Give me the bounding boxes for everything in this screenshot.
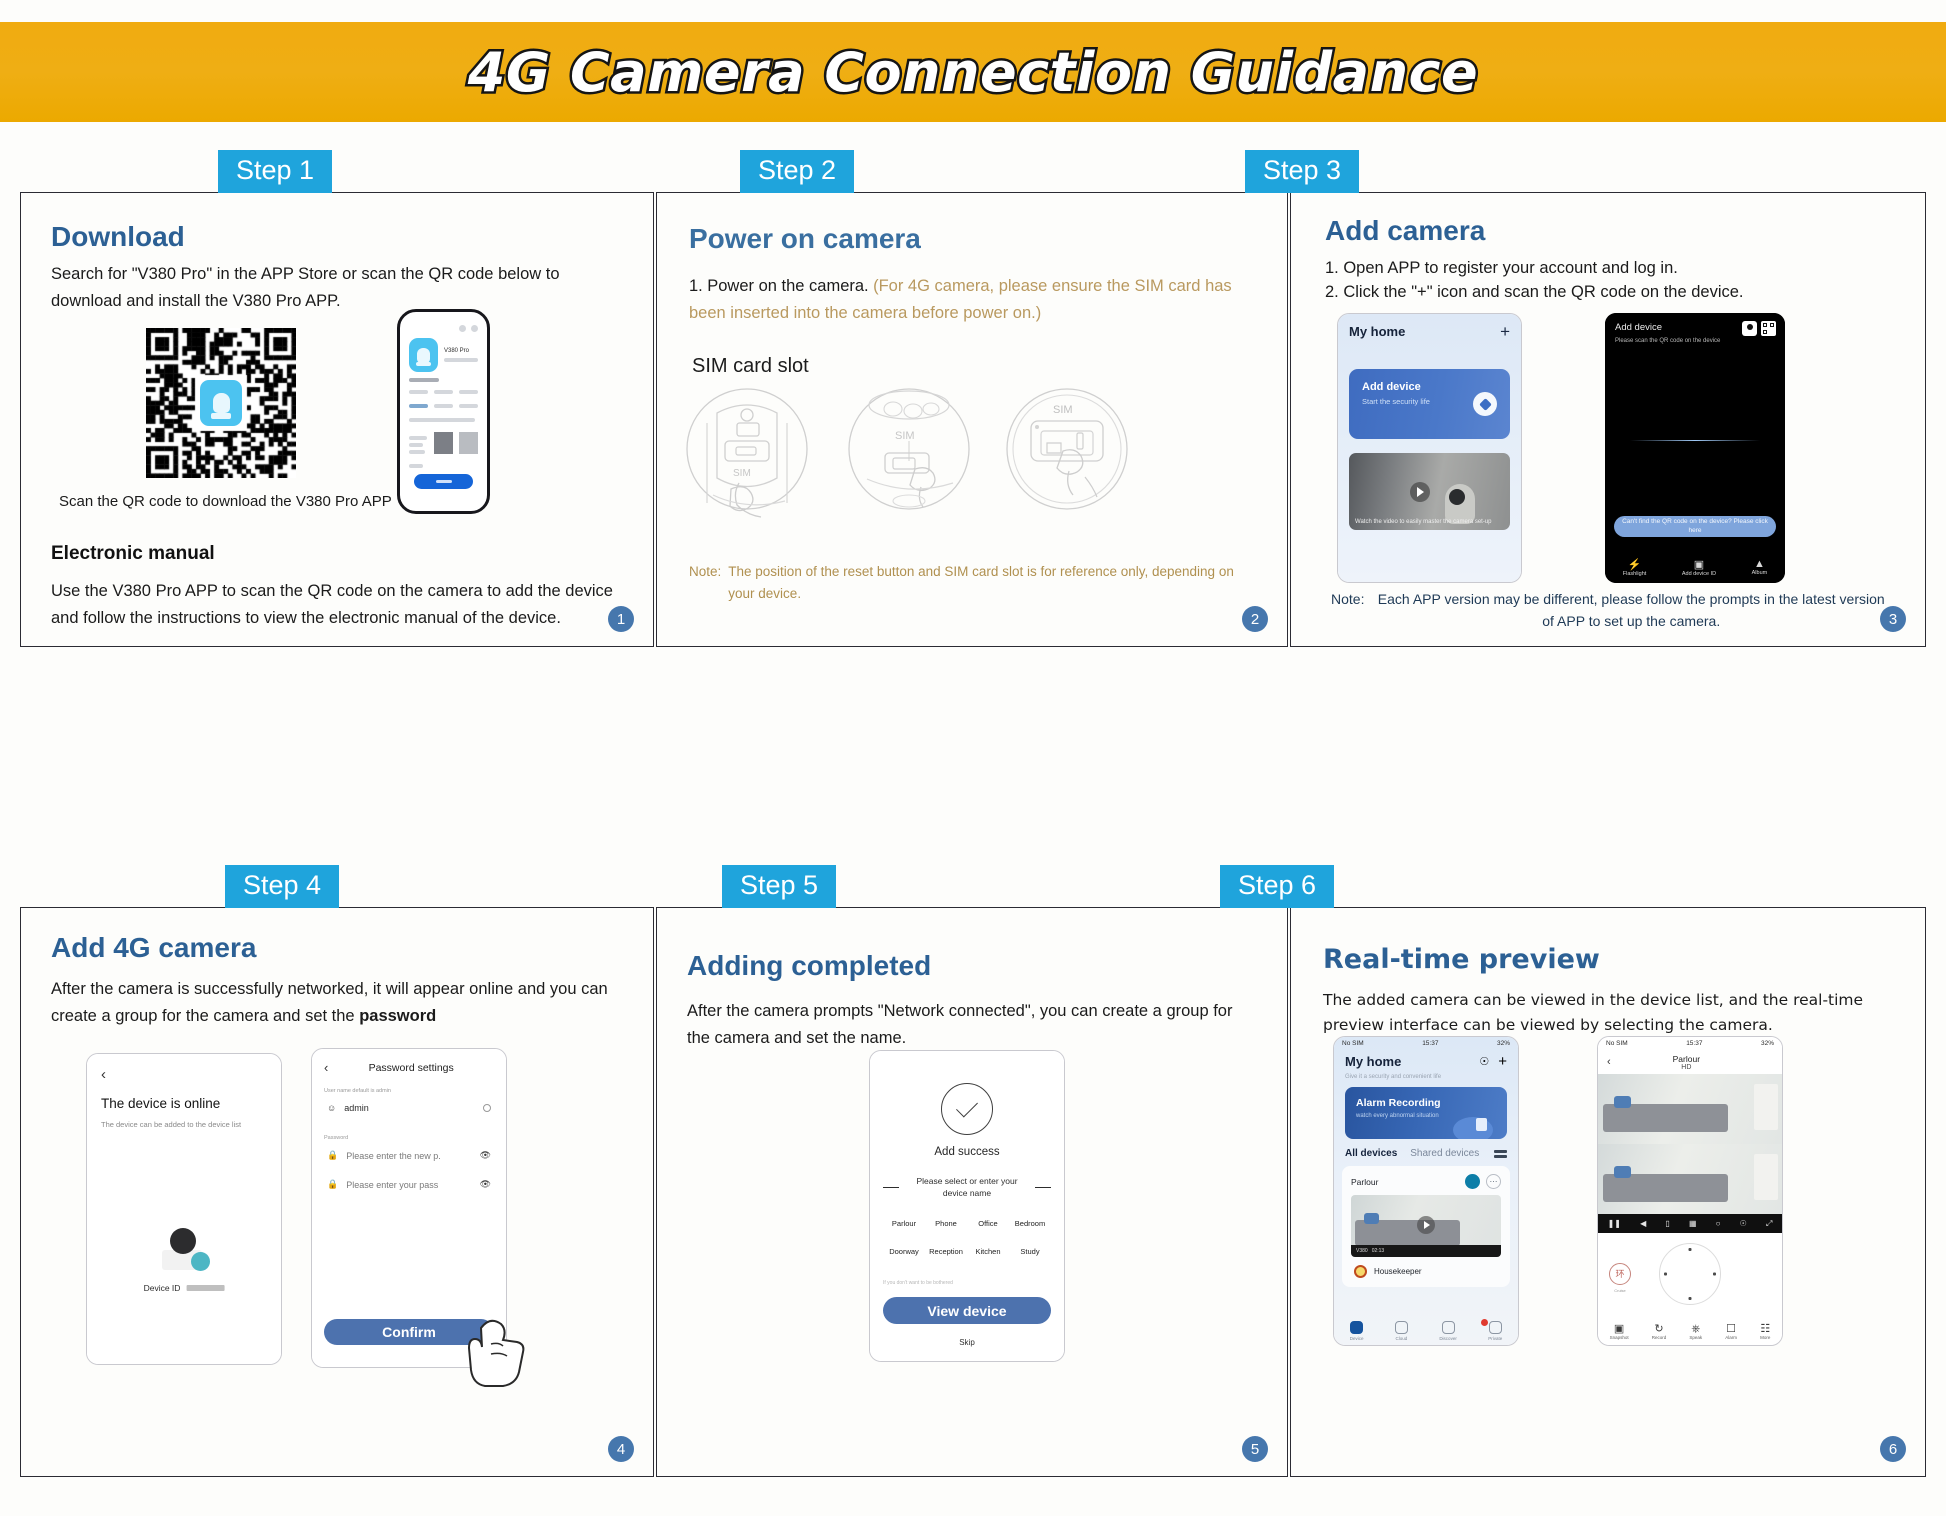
pause-icon[interactable]: ❚❚ <box>1608 1219 1621 1228</box>
device-thumbnail[interactable]: V380 02:13 <box>1351 1195 1501 1257</box>
add-device-id-tab[interactable]: ▣ Add device ID <box>1682 558 1716 577</box>
nav-discover[interactable]: Discover <box>1439 1321 1457 1341</box>
step-number-badge-3: 3 <box>1880 606 1906 632</box>
play-icon[interactable] <box>1410 482 1430 502</box>
live-video-top[interactable] <box>1598 1074 1782 1144</box>
step-2-card: Power on camera 1. Power on the camera. … <box>656 192 1288 647</box>
scan-laser-line <box>1630 440 1760 441</box>
add-device-card[interactable]: Add device Start the security life <box>1349 369 1510 439</box>
step-6-heading: Real-time preview <box>1323 944 1600 975</box>
alarm-recording-banner[interactable]: Alarm Recording watch every abnormal sit… <box>1345 1087 1507 1139</box>
svg-text:SIM: SIM <box>1053 404 1073 416</box>
room-option[interactable]: Doorway <box>883 1247 925 1256</box>
add-device-title: Add device <box>1362 381 1497 393</box>
group-row[interactable]: Housekeeper <box>1351 1257 1501 1278</box>
sim-slot-label: SIM card slot <box>692 355 809 378</box>
step-6-paragraph: The added camera can be viewed in the de… <box>1323 988 1883 1038</box>
step-3-card: Add camera 1. Open APP to register your … <box>1290 192 1926 647</box>
nav-device[interactable]: Device <box>1350 1321 1364 1341</box>
step-badge-1: Step 1 <box>218 150 332 193</box>
lock-icon: 🔒 <box>327 1179 338 1190</box>
room-option[interactable]: Bedroom <box>1009 1219 1051 1228</box>
camera-illustration <box>156 1228 212 1274</box>
device-id-masked <box>186 1285 224 1291</box>
confirm-password-placeholder: Please enter your pass <box>346 1180 471 1190</box>
app-store-phone-mockup: V380 Pro <box>397 309 490 514</box>
step-2-item-number: 1. <box>689 277 703 295</box>
preview-quality: HD <box>1611 1064 1762 1071</box>
select-name-text: Please select or enter your device name <box>907 1175 1027 1200</box>
tab-all-devices[interactable]: All devices <box>1345 1148 1397 1159</box>
promo-title: Alarm Recording <box>1356 1097 1496 1109</box>
step-5-card: Adding completed After the camera prompt… <box>656 907 1288 1477</box>
app-listing-row: V380 Pro <box>400 332 487 378</box>
step-1-subheading: Electronic manual <box>51 543 215 565</box>
scan-subtitle: Please scan the QR code on the device <box>1615 338 1775 344</box>
step-1-card: Download Search for "V380 Pro" in the AP… <box>20 192 654 647</box>
nav-cloud[interactable]: Cloud <box>1395 1321 1408 1341</box>
video-time: 02:13 <box>1372 1248 1385 1254</box>
qr-code <box>146 328 296 478</box>
user-icon[interactable] <box>1742 321 1757 336</box>
tutorial-video-thumbnail[interactable]: Watch the video to easily master the cam… <box>1349 453 1510 530</box>
step-4-paragraph: After the camera is successfully network… <box>51 976 631 1029</box>
qr-scan-phone-mockup: Add device Please scan the QR code on th… <box>1605 313 1785 583</box>
step-3-heading: Add camera <box>1325 215 1485 247</box>
step-number-badge-1: 1 <box>608 606 634 632</box>
list-view-icon[interactable] <box>1494 1150 1507 1158</box>
fullscreen-icon[interactable]: ⤢ <box>1766 1219 1772 1229</box>
skip-link[interactable]: Skip <box>870 1338 1064 1347</box>
alarm-button[interactable]: ☐Alarm <box>1725 1324 1737 1340</box>
room-option[interactable]: Kitchen <box>967 1247 1009 1256</box>
back-icon[interactable]: ‹ <box>101 1066 267 1083</box>
confirm-password-field[interactable]: 🔒 Please enter your pass 👁 <box>324 1170 494 1199</box>
step-3-item-2: 2. Click the "+" icon and scan the QR co… <box>1325 279 1744 306</box>
nav-private[interactable]: Private <box>1488 1321 1502 1341</box>
room-option[interactable]: Office <box>967 1219 1009 1228</box>
status-battery: 32% <box>1761 1040 1774 1047</box>
preview-title: Parlour <box>1611 1054 1762 1064</box>
back-icon[interactable]: ‹ <box>324 1060 328 1075</box>
add-success-phone-mockup: Add success Please select or enter your … <box>869 1050 1065 1362</box>
record-button[interactable]: ↻Record <box>1652 1324 1667 1340</box>
view-device-button[interactable]: View device <box>883 1297 1051 1324</box>
video-controls: ❚❚ ◀ ▯ ▦ ○ ☉ ⤢ <box>1598 1214 1782 1233</box>
room-option[interactable]: Phone <box>925 1219 967 1228</box>
device-id-label: Device ID <box>144 1283 181 1293</box>
status-time: 15:37 <box>1686 1040 1702 1047</box>
live-video-bottom[interactable] <box>1598 1144 1782 1214</box>
step-3-note: Note: Each APP version may be different,… <box>1331 588 1891 633</box>
person-icon: ☺ <box>327 1103 336 1113</box>
home-title: My home <box>1349 324 1500 339</box>
step-badge-5: Step 5 <box>722 865 836 908</box>
realtime-preview-phone-mockup: No SIM 15:37 32% ‹ Parlour HD ❚❚ <box>1597 1036 1783 1346</box>
note-label: Note: <box>689 561 721 604</box>
status-battery: 32% <box>1497 1040 1510 1047</box>
home-subtitle: Give it a security and convenient life <box>1334 1069 1518 1080</box>
group-name: Housekeeper <box>1374 1267 1422 1276</box>
device-online-subtitle: The device can be added to the device li… <box>101 1120 267 1129</box>
step-number-badge-2: 2 <box>1242 606 1268 632</box>
step-4-paragraph-a: After the camera is successfully network… <box>51 980 608 1025</box>
step-5-paragraph: After the camera prompts "Network connec… <box>687 998 1259 1051</box>
step-3-item-1: 1. Open APP to register your account and… <box>1325 255 1678 282</box>
device-online-title: The device is online <box>101 1096 267 1111</box>
username-field[interactable]: ☺ admin <box>324 1094 494 1122</box>
circle-icon[interactable]: ○ <box>1716 1219 1721 1228</box>
step-number-badge-4: 4 <box>608 1436 634 1462</box>
step-1-paragraph: Search for "V380 Pro" in the APP Store o… <box>51 261 627 314</box>
bottom-nav: Device Cloud Discover Private <box>1334 1321 1518 1341</box>
add-device-arrow-icon[interactable] <box>1473 392 1497 416</box>
step-4-heading: Add 4G camera <box>51 932 256 964</box>
qr-icon[interactable] <box>1761 321 1776 336</box>
more-button[interactable]: ☷More <box>1760 1324 1770 1340</box>
note-text: The position of the reset button and SIM… <box>728 561 1249 604</box>
device-name-selector: Please select or enter your device name <box>883 1175 1051 1200</box>
home-title: My home <box>1345 1054 1479 1069</box>
add-icon[interactable]: + <box>1500 326 1510 338</box>
sim-illustration-1: SIM <box>683 383 823 528</box>
group-icon <box>1354 1265 1367 1278</box>
step-2-item: 1. Power on the camera. (For 4G camera, … <box>689 273 1257 326</box>
app-name: V380 Pro <box>444 348 478 354</box>
note-label: Note: <box>1331 588 1364 633</box>
split-icon[interactable]: ▦ <box>1689 1219 1697 1228</box>
preview-bottom-bar: ▣Snapshot ↻Record ⎈Speak ☐Alarm ☷More <box>1598 1324 1782 1340</box>
room-option[interactable]: Parlour <box>883 1219 925 1228</box>
more-icon[interactable]: ⋯ <box>1486 1174 1501 1189</box>
new-password-field[interactable]: 🔒 Please enter the new p. 👁 <box>324 1141 494 1170</box>
room-name-grid: Parlour Phone Office Bedroom Doorway Rec… <box>883 1219 1051 1256</box>
eye-icon[interactable]: 👁 <box>480 1179 491 1190</box>
volume-icon[interactable]: ◀ <box>1640 1219 1646 1228</box>
ptz-control-pad[interactable]: 环 Cruise <box>1598 1233 1782 1319</box>
speak-button[interactable]: ⎈Speak <box>1689 1324 1702 1340</box>
app-icon <box>409 338 438 372</box>
page-title: 4G Camera Connection Guidance <box>468 41 1478 104</box>
v380-app-logo-icon <box>200 380 242 426</box>
cannot-find-qr-button[interactable]: Can't find the QR code on the device? Pl… <box>1614 516 1776 537</box>
flashlight-tab[interactable]: ⚡ Flashlight <box>1623 558 1647 577</box>
step-6-card: Real-time preview The added camera can b… <box>1290 907 1926 1477</box>
step-1-heading: Download <box>51 221 185 253</box>
phone-statusbar <box>400 312 487 325</box>
cloud-icon[interactable] <box>1465 1174 1480 1189</box>
room-option[interactable]: Study <box>1009 1247 1051 1256</box>
add-icon[interactable]: + <box>1498 1056 1507 1068</box>
step-2-item-text: Power on the camera. <box>707 277 868 295</box>
step-badge-6: Step 6 <box>1220 865 1334 908</box>
fine-print: If you don't want to be bothered <box>883 1280 1051 1286</box>
step-badge-4: Step 4 <box>225 865 339 908</box>
video-brand-tag: V380 <box>1356 1248 1368 1254</box>
record-icon[interactable]: ☉ <box>1740 1219 1747 1228</box>
qr-caption: Scan the QR code to download the V380 Pr… <box>59 493 392 510</box>
new-password-placeholder: Please enter the new p. <box>346 1151 471 1161</box>
step-badge-3: Step 3 <box>1245 150 1359 193</box>
step-4-card: Add 4G camera After the camera is succes… <box>20 907 654 1477</box>
svg-text:SIM: SIM <box>895 430 915 442</box>
device-online-phone-mockup: ‹ The device is online The device can be… <box>86 1053 282 1365</box>
device-card[interactable]: Parlour ⋯ V380 02:13 <box>1342 1166 1510 1287</box>
tab-shared-devices[interactable]: Shared devices <box>1410 1148 1479 1159</box>
header-banner: 4G Camera Connection Guidance <box>0 22 1946 122</box>
step-5-heading: Adding completed <box>687 950 931 982</box>
guidance-poster: 4G Camera Connection Guidance Step 1 Ste… <box>0 0 1946 1516</box>
room-option[interactable]: Reception <box>925 1247 967 1256</box>
success-check-icon <box>941 1083 993 1135</box>
svg-text:SIM: SIM <box>733 468 751 479</box>
step-1-subparagraph: Use the V380 Pro APP to scan the QR code… <box>51 578 627 631</box>
realtime-home-phone-mockup: No SIM 15:37 32% My home ☉ + Give it a s… <box>1333 1036 1519 1346</box>
status-carrier: No SIM <box>1606 1040 1628 1047</box>
phone-statusbar: No SIM 15:37 32% <box>1334 1037 1518 1050</box>
radio-icon[interactable] <box>483 1104 491 1112</box>
status-time: 15:37 <box>1422 1040 1438 1047</box>
add-success-text: Add success <box>883 1146 1051 1158</box>
cruise-button[interactable]: 环 Cruise <box>1609 1263 1631 1293</box>
play-icon[interactable] <box>1417 1216 1435 1234</box>
lock-icon: 🔒 <box>327 1150 338 1161</box>
video-caption: Watch the video to easily master the cam… <box>1355 518 1504 526</box>
username-value: admin <box>344 1103 475 1113</box>
sim-illustration-2: SIM <box>843 383 983 528</box>
step-2-heading: Power on camera <box>689 223 921 255</box>
step-badge-2: Step 2 <box>740 150 854 193</box>
snapshot-button[interactable]: ▣Snapshot <box>1610 1324 1629 1340</box>
app-home-phone-mockup: My home + Add device Start the security … <box>1337 313 1522 583</box>
step-2-note: Note: The position of the reset button a… <box>689 561 1249 604</box>
device-name: Parlour <box>1351 1177 1465 1187</box>
eye-icon[interactable]: 👁 <box>480 1150 491 1161</box>
device-id-row: Device ID <box>144 1283 225 1293</box>
step-4-paragraph-b: password <box>359 1007 436 1025</box>
note-text: Each APP version may be different, pleas… <box>1371 588 1891 633</box>
status-carrier: No SIM <box>1342 1040 1364 1047</box>
download-button[interactable] <box>414 474 473 489</box>
album-tab[interactable]: ▲ Album <box>1752 558 1768 577</box>
bell-icon[interactable]: ☉ <box>1479 1055 1489 1068</box>
screen-icon[interactable]: ▯ <box>1665 1219 1669 1228</box>
sim-illustration-3: SIM <box>1001 383 1141 528</box>
step-number-badge-5: 5 <box>1242 1436 1268 1462</box>
phone-statusbar: No SIM 15:37 32% <box>1598 1037 1782 1050</box>
password-settings-title: Password settings <box>342 1062 480 1074</box>
pointing-hand-icon <box>461 1308 533 1395</box>
step-number-badge-6: 6 <box>1880 1436 1906 1462</box>
